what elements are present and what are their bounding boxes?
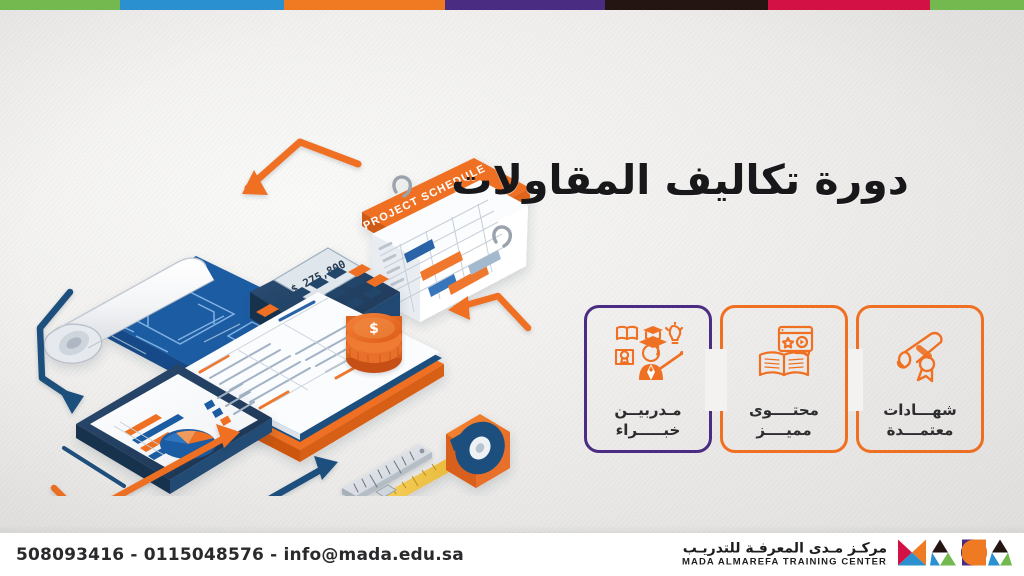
mada-logomark: [896, 537, 1012, 572]
footer-bar: 508093416 - 0115048576 - info@mada.edu.s…: [0, 532, 1024, 576]
topbar-segment-black: [605, 0, 768, 10]
feature-label-line2: مميــــز: [726, 420, 842, 441]
tape-measure: [376, 413, 514, 496]
blue-arrow-bottom: [250, 456, 338, 496]
svg-text:$: $: [369, 321, 379, 337]
feature-label-content: محتــــوى مميــــز: [726, 400, 842, 441]
topbar-segment-crimson: [768, 0, 930, 10]
coin-stack: $: [346, 313, 402, 373]
trainer-presenter-icon: [584, 317, 712, 389]
feature-box-content[interactable]: محتــــوى مميــــز: [720, 305, 848, 453]
feature-box-trainers[interactable]: مـدربيــن خبـــــراء: [584, 305, 712, 453]
brand-name-arabic: مركـز مـدى المعرفـة للتدريـب: [682, 540, 887, 556]
brand-text: مركـز مـدى المعرفـة للتدريـب MADA ALMARE…: [682, 540, 887, 568]
orange-arrow-top: [242, 142, 358, 195]
poster-canvas: PROJECT SCHEDULE: [0, 0, 1024, 576]
topbar-segment-orange: [284, 0, 445, 10]
feature-box-certificates[interactable]: شهـــادات معتمـــدة: [856, 305, 984, 453]
page-title: دورة تكاليف المقاولات: [370, 156, 990, 204]
feature-label-line1: شهـــادات: [883, 401, 957, 419]
brand-lockup: مركـز مـدى المعرفـة للتدريـب MADA ALMARE…: [682, 537, 1012, 572]
brand-name-english: MADA ALMAREFA TRAINING CENTER: [682, 556, 887, 568]
feature-boxes: شهـــادات معتمـــدة: [584, 305, 984, 455]
feature-label-trainers: مـدربيــن خبـــــراء: [590, 400, 706, 441]
feature-label-line2: خبـــــراء: [590, 420, 706, 441]
feature-label-certificates: شهـــادات معتمـــدة: [862, 400, 978, 441]
top-color-bar: [0, 0, 1024, 10]
contact-info[interactable]: 508093416 - 0115048576 - info@mada.edu.s…: [16, 545, 464, 565]
feature-label-line1: مـدربيــن: [614, 401, 681, 419]
topbar-segment-blue: [120, 0, 284, 10]
feature-label-line1: محتــــوى: [749, 401, 819, 419]
feature-label-line2: معتمـــدة: [862, 420, 978, 441]
diploma-scroll-icon: [856, 317, 984, 389]
topbar-segment-purple: [445, 0, 605, 10]
topbar-segment-green-2: [930, 0, 1024, 10]
topbar-segment-green: [0, 0, 120, 10]
open-book-media-icon: [720, 317, 848, 389]
